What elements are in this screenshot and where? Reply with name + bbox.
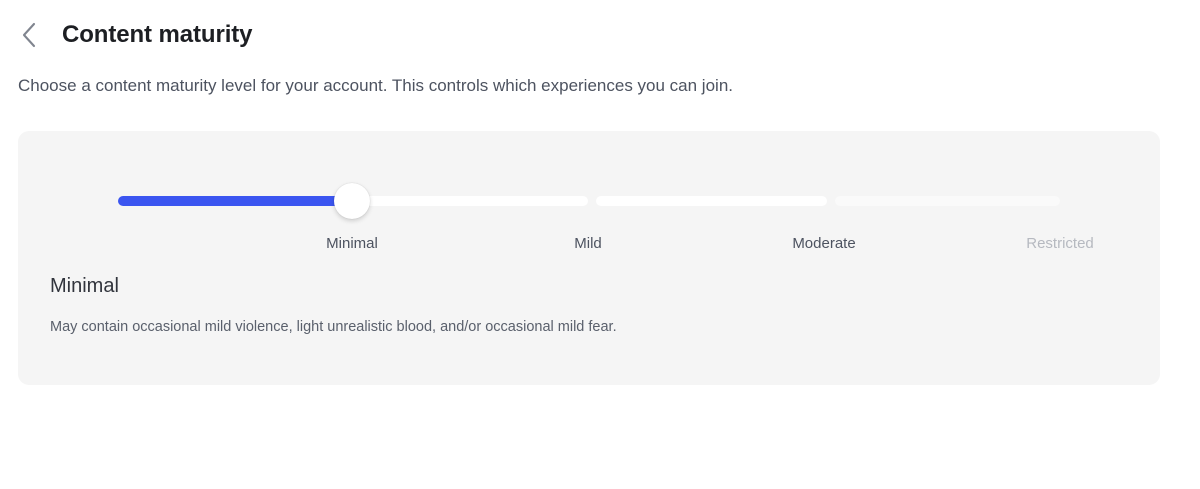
- page-subtitle: Choose a content maturity level for your…: [18, 76, 733, 96]
- slider-segment-restricted: [835, 196, 1060, 206]
- slider-thumb[interactable]: [334, 183, 370, 219]
- slider-label-moderate[interactable]: Moderate: [792, 235, 855, 252]
- maturity-slider[interactable]: [118, 191, 1060, 211]
- slider-tick-labels: Minimal Mild Moderate Restricted: [118, 235, 1060, 257]
- slider-label-minimal[interactable]: Minimal: [326, 235, 378, 252]
- selected-level-name: Minimal: [50, 275, 119, 298]
- slider-label-restricted: Restricted: [1026, 235, 1094, 252]
- selected-level-description: May contain occasional mild violence, li…: [50, 319, 617, 335]
- chevron-left-icon[interactable]: [16, 21, 42, 49]
- content-maturity-page: Content maturity Choose a content maturi…: [0, 0, 1200, 489]
- slider-filled-track: [118, 196, 352, 206]
- slider-segment-mild[interactable]: [357, 196, 588, 206]
- slider-segment-moderate[interactable]: [596, 196, 827, 206]
- page-title: Content maturity: [62, 21, 252, 49]
- maturity-settings-card: Minimal Mild Moderate Restricted Minimal…: [18, 131, 1160, 385]
- slider-label-mild[interactable]: Mild: [574, 235, 602, 252]
- page-header: Content maturity: [16, 17, 252, 53]
